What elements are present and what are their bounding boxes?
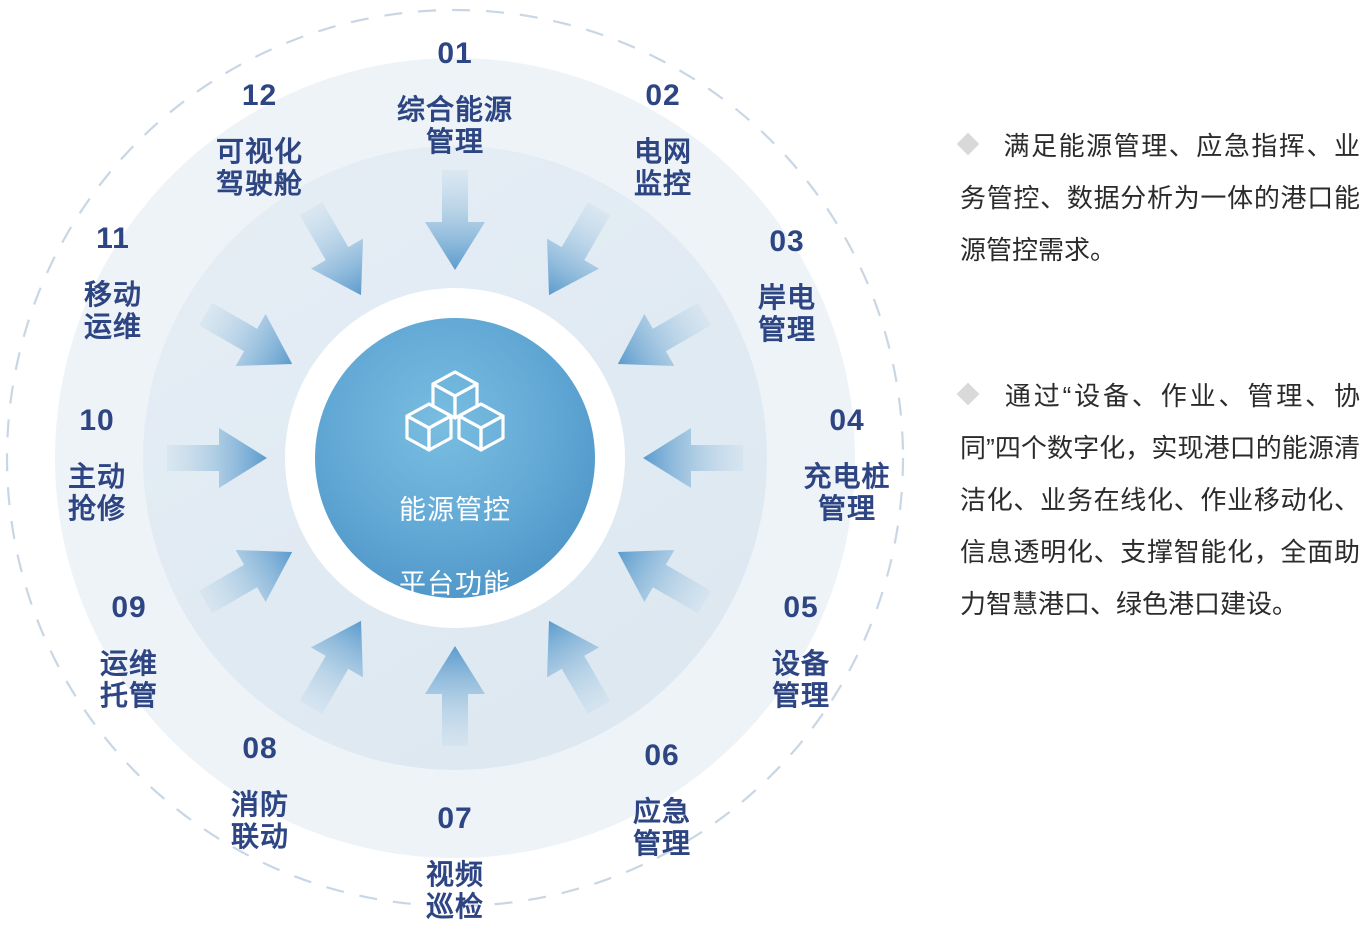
diamond-bullet-icon xyxy=(957,133,980,156)
spoke-label-01[interactable]: 01 综合能源 管理 xyxy=(355,18,555,177)
spoke-number: 10 xyxy=(22,404,172,439)
spoke-label-03[interactable]: 03 岸电 管理 xyxy=(712,206,862,365)
spoke-label-02[interactable]: 02 电网 监控 xyxy=(588,60,738,219)
spoke-caption: 移动 运维 xyxy=(38,279,188,344)
spoke-label-06[interactable]: 06 应急 管理 xyxy=(587,720,737,879)
spoke-number: 09 xyxy=(54,591,204,626)
spoke-caption: 视频 巡检 xyxy=(380,859,530,924)
spoke-number: 11 xyxy=(38,222,188,257)
energy-platform-diagram: 能源管控 平台功能 01 综合能源 管理 02 电网 监控 03 岸电 管理 0… xyxy=(0,0,930,915)
spoke-caption: 岸电 管理 xyxy=(712,282,862,347)
spoke-caption: 充电桩 管理 xyxy=(767,461,927,526)
description-paragraph-2: 通过“设备、作业、管理、协同”四个数字化，实现港口的能源清洁化、业务在线化、作业… xyxy=(960,370,1360,630)
spoke-number: 03 xyxy=(712,225,862,260)
slide-canvas: 能源管控 平台功能 01 综合能源 管理 02 电网 监控 03 岸电 管理 0… xyxy=(0,0,1364,915)
paragraph-text: 满足能源管理、应急指挥、业务管控、数据分析为一体的港口能源管控需求。 xyxy=(960,131,1360,265)
spoke-caption: 运维 托管 xyxy=(54,648,204,713)
core-disc xyxy=(315,318,595,598)
spoke-caption: 电网 监控 xyxy=(588,136,738,201)
spoke-label-07[interactable]: 07 视频 巡检 xyxy=(380,783,530,942)
spoke-label-11[interactable]: 11 移动 运维 xyxy=(38,203,188,362)
description-paragraph-1: 满足能源管理、应急指挥、业务管控、数据分析为一体的港口能源管控需求。 xyxy=(960,120,1360,276)
spoke-caption: 应急 管理 xyxy=(587,796,737,861)
spoke-number: 04 xyxy=(767,404,927,439)
spoke-number: 01 xyxy=(355,37,555,72)
spoke-label-12[interactable]: 12 可视化 驾驶舱 xyxy=(177,60,342,219)
description-panel: 满足能源管理、应急指挥、业务管控、数据分析为一体的港口能源管控需求。 通过“设备… xyxy=(960,0,1364,915)
spoke-number: 08 xyxy=(185,732,335,767)
spoke-caption: 可视化 驾驶舱 xyxy=(177,136,342,201)
diamond-bullet-icon xyxy=(957,383,980,406)
spoke-label-10[interactable]: 10 主动 抢修 xyxy=(22,385,172,544)
spoke-label-05[interactable]: 05 设备 管理 xyxy=(726,572,876,731)
paragraph-text: 通过“设备、作业、管理、协同”四个数字化，实现港口的能源清洁化、业务在线化、作业… xyxy=(960,381,1360,619)
spoke-caption: 主动 抢修 xyxy=(22,461,172,526)
spoke-label-04[interactable]: 04 充电桩 管理 xyxy=(767,385,927,544)
spoke-number: 12 xyxy=(177,79,342,114)
spoke-label-09[interactable]: 09 运维 托管 xyxy=(54,572,204,731)
spoke-number: 02 xyxy=(588,79,738,114)
spoke-number: 05 xyxy=(726,591,876,626)
spoke-number: 07 xyxy=(380,802,530,837)
spoke-label-08[interactable]: 08 消防 联动 xyxy=(185,713,335,872)
spoke-caption: 消防 联动 xyxy=(185,789,335,854)
spoke-number: 06 xyxy=(587,739,737,774)
spoke-caption: 综合能源 管理 xyxy=(355,94,555,159)
spoke-caption: 设备 管理 xyxy=(726,648,876,713)
